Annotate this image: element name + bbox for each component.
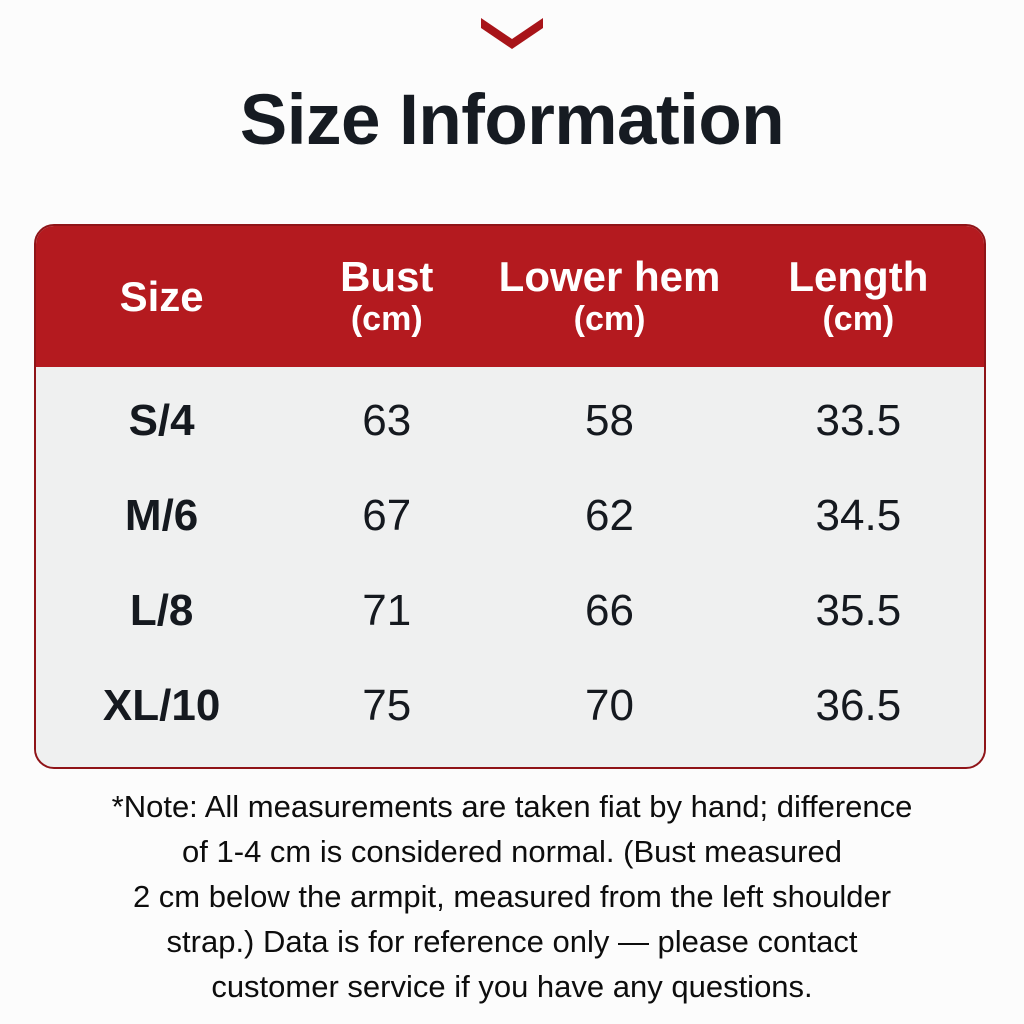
column-header-bust: Bust (cm) [287, 254, 486, 338]
cell-lower-hem: 58 [486, 399, 732, 443]
note-line: customer service if you have any questio… [50, 964, 974, 1009]
cell-lower-hem: 66 [486, 589, 732, 633]
column-header-bust-label: Bust [340, 253, 433, 300]
table-row: M/6 67 62 34.5 [36, 468, 984, 563]
table-body: S/4 63 58 33.5 M/6 67 62 34.5 L/8 71 66 … [36, 367, 984, 767]
note-line: *Note: All measurements are taken fiat b… [50, 784, 974, 829]
table-header-row: Size Bust (cm) Lower hem (cm) Length (cm… [36, 226, 984, 367]
cell-bust: 75 [287, 684, 486, 728]
cell-size: L/8 [36, 589, 287, 633]
column-header-lower-hem: Lower hem (cm) [486, 254, 732, 338]
cell-length: 36.5 [733, 684, 984, 728]
page-title: Size Information [0, 82, 1024, 160]
table-row: L/8 71 66 35.5 [36, 563, 984, 658]
column-header-size: Size [36, 274, 287, 319]
column-header-length-unit: (cm) [733, 300, 984, 339]
column-header-lower-hem-unit: (cm) [486, 300, 732, 339]
cell-size: M/6 [36, 494, 287, 538]
column-header-length: Length (cm) [733, 254, 984, 338]
chevron-down-icon [481, 16, 543, 50]
cell-lower-hem: 62 [486, 494, 732, 538]
chevron-decoration [0, 16, 1024, 56]
cell-length: 33.5 [733, 399, 984, 443]
size-information-page: Size Information Size Bust (cm) Lower he… [0, 0, 1024, 1024]
cell-size: S/4 [36, 399, 287, 443]
cell-size: XL/10 [36, 684, 287, 728]
column-header-length-label: Length [788, 253, 928, 300]
table-row: S/4 63 58 33.5 [36, 373, 984, 468]
measurement-note: *Note: All measurements are taken fiat b… [50, 784, 974, 1009]
size-chart-table: Size Bust (cm) Lower hem (cm) Length (cm… [34, 224, 986, 769]
column-header-bust-unit: (cm) [287, 300, 486, 339]
cell-bust: 63 [287, 399, 486, 443]
cell-length: 35.5 [733, 589, 984, 633]
column-header-lower-hem-label: Lower hem [499, 253, 721, 300]
note-line: of 1-4 cm is considered normal. (Bust me… [50, 829, 974, 874]
column-header-size-label: Size [120, 273, 204, 320]
cell-bust: 71 [287, 589, 486, 633]
cell-length: 34.5 [733, 494, 984, 538]
note-line: strap.) Data is for reference only — ple… [50, 919, 974, 964]
table-row: XL/10 75 70 36.5 [36, 658, 984, 753]
note-line: 2 cm below the armpit, measured from the… [50, 874, 974, 919]
cell-lower-hem: 70 [486, 684, 732, 728]
cell-bust: 67 [287, 494, 486, 538]
